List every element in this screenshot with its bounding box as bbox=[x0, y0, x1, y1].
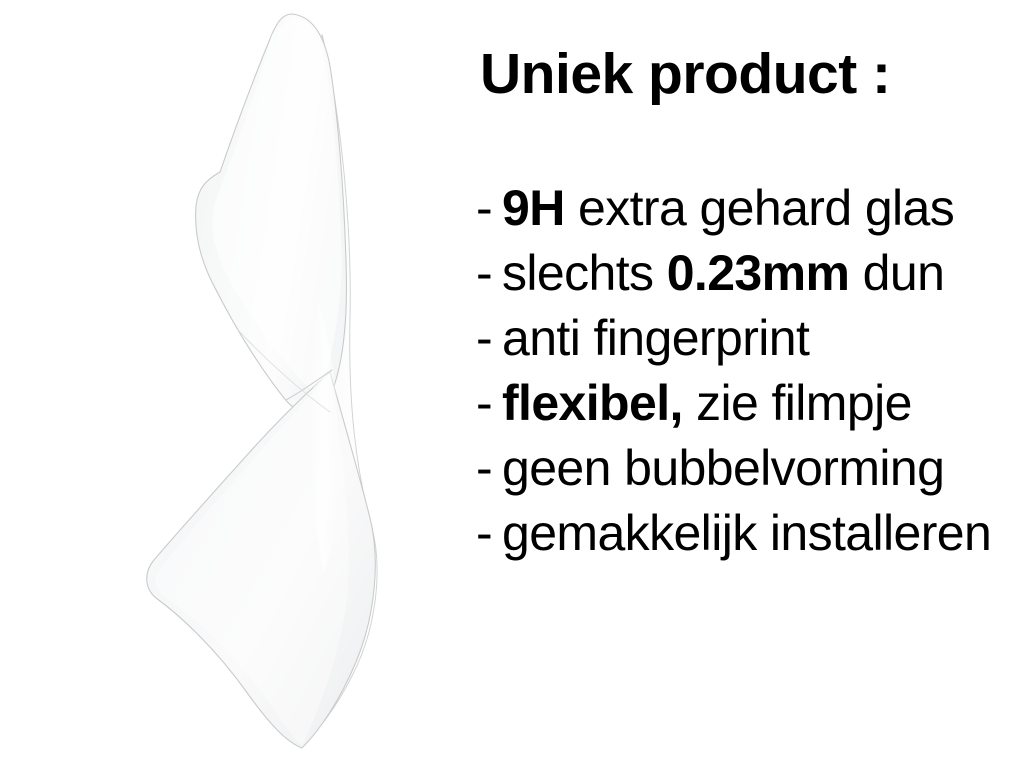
bullet-dash: - bbox=[476, 241, 502, 306]
list-item: -9H extra gehard glas bbox=[476, 176, 1024, 241]
feature-bold: flexibel, bbox=[502, 375, 683, 431]
list-item: -flexibel, zie filmpje bbox=[476, 371, 1024, 436]
list-item: -gemakkelijk installeren bbox=[476, 501, 1024, 566]
flexed-glass-illustration bbox=[0, 0, 440, 768]
feature-pre: slechts bbox=[502, 245, 667, 301]
product-image bbox=[0, 0, 440, 768]
page-title: Uniek product : bbox=[480, 46, 891, 103]
feature-post: extra gehard glas bbox=[565, 180, 954, 236]
feature-bold: 9H bbox=[502, 180, 565, 236]
bullet-dash: - bbox=[476, 306, 502, 371]
bullet-dash: - bbox=[476, 436, 502, 501]
feature-pre: anti fingerprint bbox=[502, 310, 809, 366]
list-item: -geen bubbelvorming bbox=[476, 436, 1024, 501]
bullet-dash: - bbox=[476, 371, 502, 436]
product-feature-slide: Uniek product : -9H extra gehard glas -s… bbox=[0, 0, 1024, 768]
feature-list: -9H extra gehard glas -slechts 0.23mm du… bbox=[476, 176, 1024, 566]
feature-post: zie filmpje bbox=[683, 375, 912, 431]
list-item: -slechts 0.23mm dun bbox=[476, 241, 1024, 306]
bullet-dash: - bbox=[476, 501, 502, 566]
feature-pre: geen bubbelvorming bbox=[502, 440, 944, 496]
feature-pre: gemakkelijk installeren bbox=[502, 505, 991, 561]
feature-bold: 0.23mm bbox=[667, 245, 850, 301]
text-panel: Uniek product : -9H extra gehard glas -s… bbox=[462, 0, 1024, 768]
feature-post: dun bbox=[849, 245, 944, 301]
bullet-dash: - bbox=[476, 176, 502, 241]
list-item: -anti fingerprint bbox=[476, 306, 1024, 371]
